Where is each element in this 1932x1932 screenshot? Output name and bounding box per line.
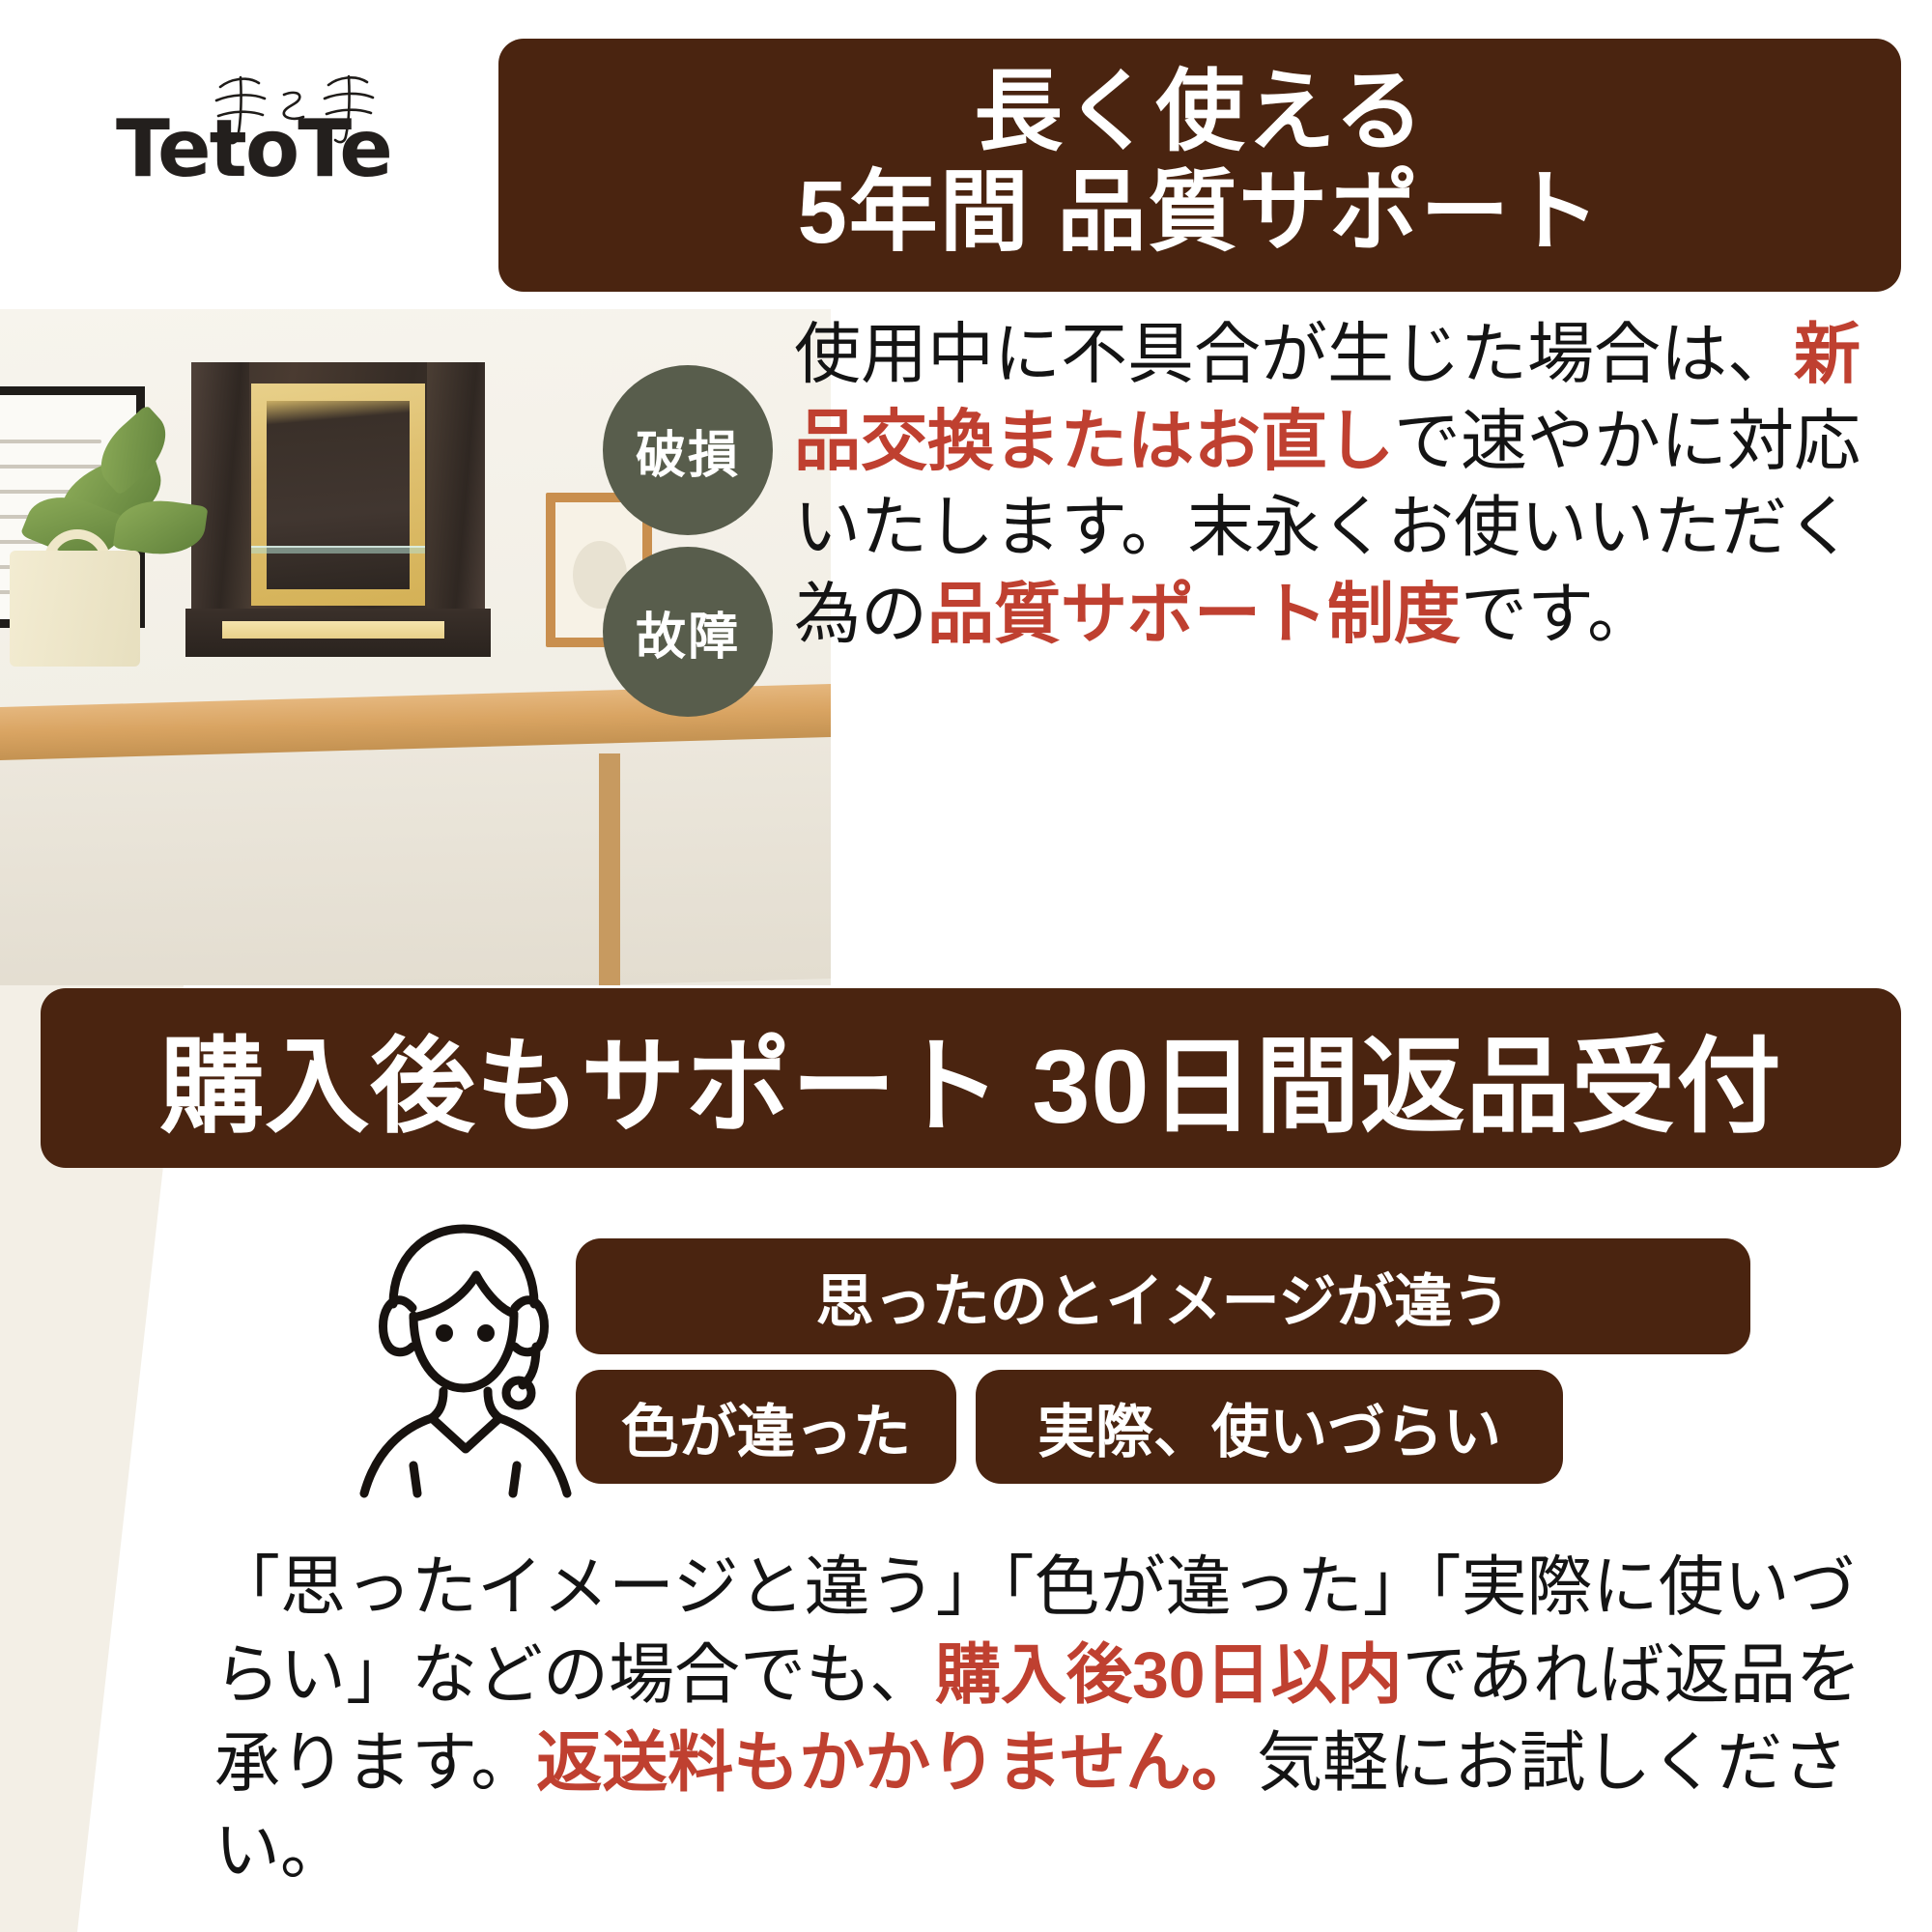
copy-top-seg1: 使用中に不具合が生じた場合は、 <box>794 317 1794 391</box>
shelf-leg <box>599 753 620 985</box>
pill-image-mismatch: 思ったのとイメージが違う <box>576 1238 1750 1354</box>
shelf-underside <box>0 736 831 985</box>
pill-3-label: 実際、使いづらい <box>1037 1385 1501 1469</box>
banner-line-1: 長く使える <box>974 65 1425 160</box>
logo-wordmark: TetoTe <box>116 103 391 195</box>
banner-quality-support: 長く使える 5年間 品質サポート <box>498 39 1901 292</box>
copy-bottom-em2: 返送料もかかりません。 <box>536 1726 1257 1800</box>
headset-operator-icon <box>319 1219 609 1499</box>
badge-damage-label: 破損 <box>636 414 740 487</box>
return-description: 「思ったイメージと違う」「色が違った」「実際に使いづらい」などの場合でも、購入後… <box>214 1544 1895 1895</box>
banner-return-policy: 購入後もサポート 30日間返品受付 <box>41 988 1901 1168</box>
banner-return-label: 購入後もサポート 30日間返品受付 <box>159 1003 1781 1153</box>
support-description: 使用中に不具合が生じた場合は、新品交換またはお直しで速やかに対応いたします。末永… <box>794 311 1915 658</box>
badge-damage: 破損 <box>603 365 773 535</box>
pill-2-label: 色が違った <box>621 1385 911 1469</box>
copy-top-seg4: です。 <box>1461 577 1654 651</box>
pill-1-label: 思ったのとイメージが違う <box>816 1255 1511 1339</box>
badge-fault-label: 故障 <box>636 596 740 668</box>
planter-pot <box>10 551 140 667</box>
brand-logo: TetoTe <box>116 70 435 195</box>
banner-line-2: 5年間 品質サポート <box>798 160 1603 266</box>
pill-hard-to-use: 実際、使いづらい <box>976 1370 1563 1484</box>
butsudan-cabinet <box>193 362 483 652</box>
pill-color-mismatch: 色が違った <box>576 1370 956 1484</box>
copy-top-em2: 品質サポート制度 <box>927 577 1461 651</box>
badge-fault: 故障 <box>603 547 773 717</box>
copy-bottom-em1: 購入後30日以内 <box>935 1638 1403 1712</box>
